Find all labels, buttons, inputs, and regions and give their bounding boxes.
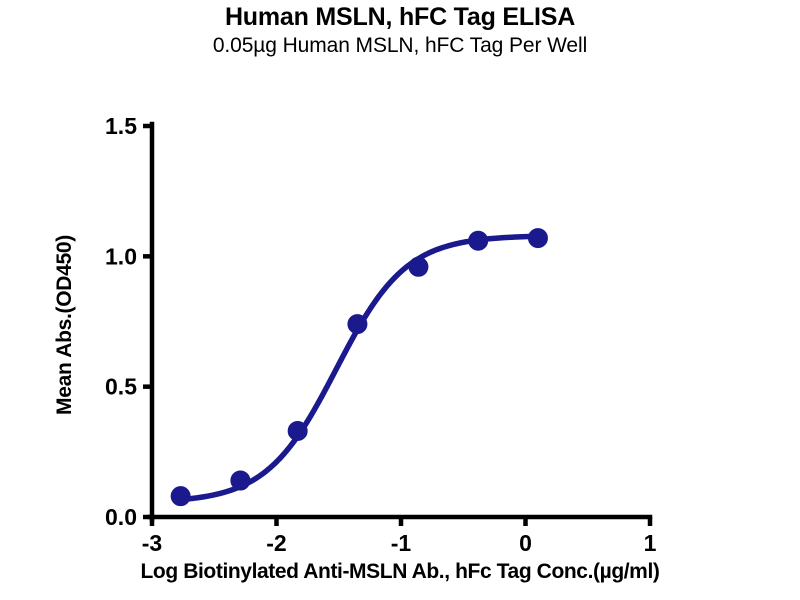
- data-point: [171, 487, 190, 506]
- data-point: [409, 257, 428, 276]
- x-tick-label: -1: [391, 530, 412, 556]
- x-tick-label: 0: [519, 530, 532, 556]
- plot-area: 0.00.51.01.5 -3-2-101: [0, 0, 800, 600]
- y-tick-label: 0.5: [105, 374, 137, 400]
- x-tick-label: -3: [142, 530, 162, 556]
- y-tick-label: 0.0: [105, 504, 137, 530]
- fit-curve: [181, 236, 538, 499]
- x-tick-label: -2: [266, 530, 286, 556]
- data-point: [348, 315, 367, 334]
- y-tick-label: 1.5: [105, 113, 137, 139]
- y-axis-tick-labels: 0.00.51.01.5: [105, 113, 137, 530]
- y-tick-label: 1.0: [105, 243, 137, 269]
- x-tick-label: 1: [644, 530, 657, 556]
- elisa-chart-figure: Human MSLN, hFC Tag ELISA 0.05µg Human M…: [0, 0, 800, 600]
- data-point: [528, 229, 547, 248]
- data-point-markers: [171, 229, 547, 506]
- data-point: [288, 421, 307, 440]
- data-point: [469, 231, 488, 250]
- x-axis-tick-labels: -3-2-101: [142, 530, 657, 556]
- data-point: [231, 471, 250, 490]
